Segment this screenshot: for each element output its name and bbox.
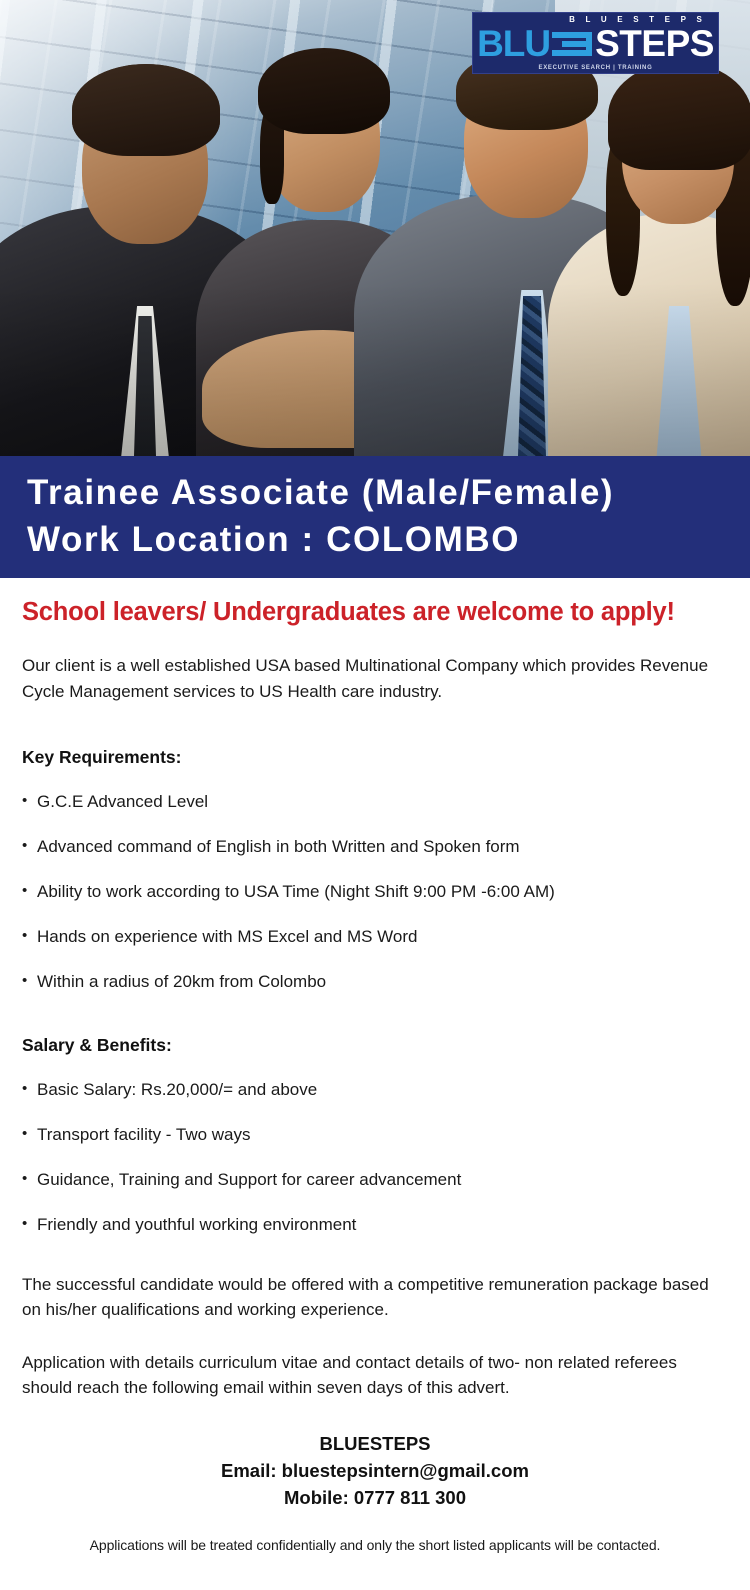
job-advertisement-poster: B L U E S T E P S BLU STEPS EXECUTIVE SE… — [0, 0, 750, 1590]
key-requirements-list: G.C.E Advanced Level Advanced command of… — [22, 791, 728, 993]
list-item: Basic Salary: Rs.20,000/= and above — [22, 1079, 728, 1101]
job-title-banner: Trainee Associate (Male/Female) Work Loc… — [0, 456, 750, 578]
list-item: Hands on experience with MS Excel and MS… — [22, 926, 728, 948]
contact-company: BLUESTEPS — [22, 1430, 728, 1457]
logo-word-blu: BLU — [477, 25, 550, 62]
logo-wordmark: BLU STEPS — [477, 25, 714, 62]
remuneration-paragraph: The successful candidate would be offere… — [22, 1272, 722, 1322]
eligibility-headline: School leavers/ Undergraduates are welco… — [22, 598, 728, 627]
header-photo: B L U E S T E P S BLU STEPS EXECUTIVE SE… — [0, 0, 750, 456]
contact-email[interactable]: Email: bluestepsintern@gmail.com — [22, 1457, 728, 1484]
key-requirements-heading: Key Requirements: — [22, 747, 728, 768]
list-item: Transport facility - Two ways — [22, 1124, 728, 1146]
list-item: G.C.E Advanced Level — [22, 791, 728, 813]
logo-tagline: EXECUTIVE SEARCH | TRAINING — [539, 65, 653, 71]
list-item: Within a radius of 20km from Colombo — [22, 971, 728, 993]
job-title: Trainee Associate (Male/Female) — [27, 469, 750, 516]
salary-benefits-heading: Salary & Benefits: — [22, 1035, 728, 1056]
contact-mobile[interactable]: Mobile: 0777 811 300 — [22, 1484, 728, 1511]
work-location: Work Location : COLOMBO — [27, 516, 750, 563]
bluesteps-logo[interactable]: B L U E S T E P S BLU STEPS EXECUTIVE SE… — [472, 12, 719, 74]
list-item: Guidance, Training and Support for caree… — [22, 1169, 728, 1191]
list-item: Ability to work according to USA Time (N… — [22, 881, 728, 903]
list-item: Advanced command of English in both Writ… — [22, 836, 728, 858]
logo-word-steps: STEPS — [595, 25, 714, 62]
confidentiality-disclaimer: Applications will be treated confidentia… — [22, 1537, 728, 1553]
intro-paragraph: Our client is a well established USA bas… — [22, 653, 712, 705]
list-item: Friendly and youthful working environmen… — [22, 1214, 728, 1236]
contact-block: BLUESTEPS Email: bluestepsintern@gmail.c… — [22, 1430, 728, 1511]
salary-benefits-list: Basic Salary: Rs.20,000/= and above Tran… — [22, 1079, 728, 1236]
advert-body: School leavers/ Undergraduates are welco… — [0, 578, 750, 1553]
application-paragraph: Application with details curriculum vita… — [22, 1350, 722, 1400]
steps-bar-mark-icon — [552, 28, 594, 58]
